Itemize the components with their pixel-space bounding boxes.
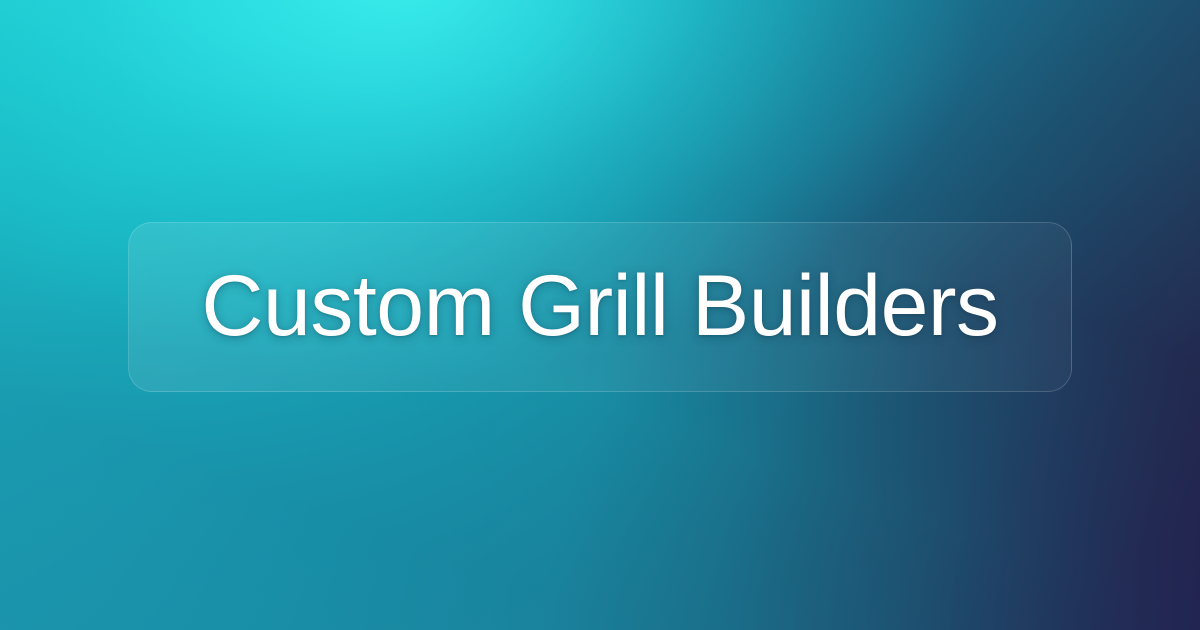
title-card: Custom Grill Builders <box>128 222 1072 392</box>
share-card-canvas: Custom Grill Builders <box>0 0 1200 630</box>
card-centering-layer: Custom Grill Builders <box>0 0 1200 630</box>
page-title: Custom Grill Builders <box>201 261 998 351</box>
